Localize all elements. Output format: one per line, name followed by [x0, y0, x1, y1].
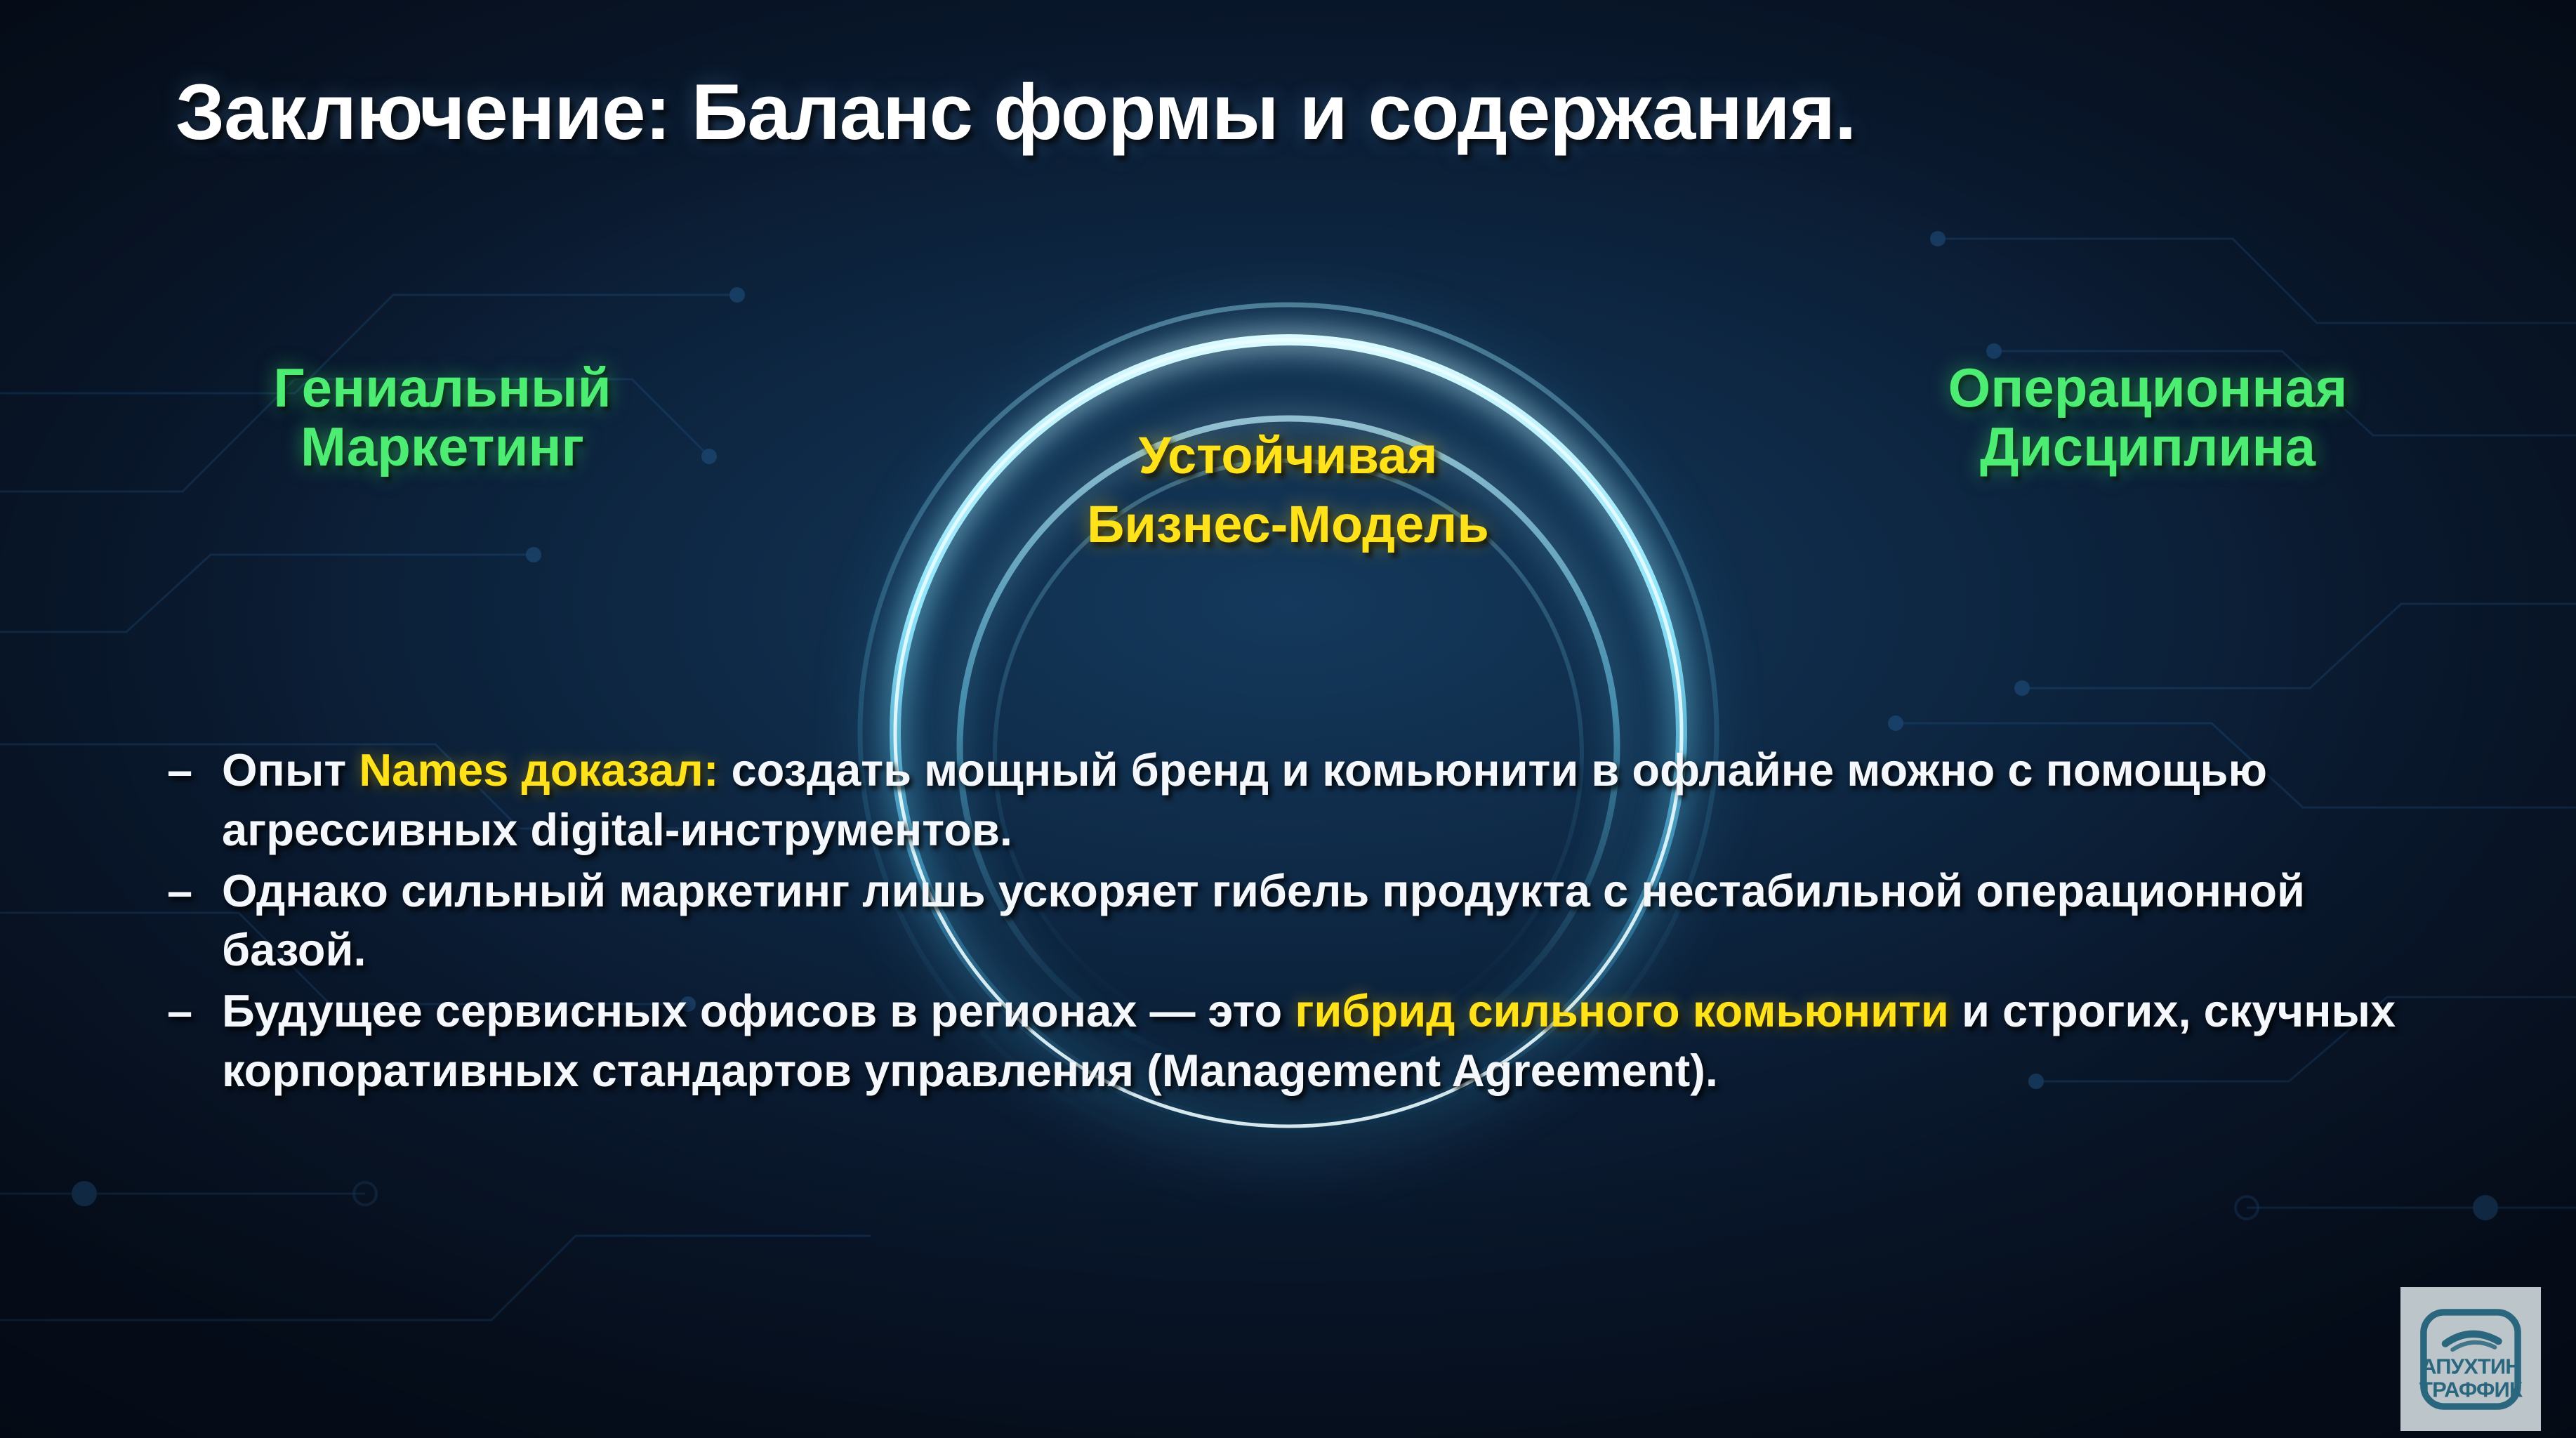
wifi-arc-icon: АПУХТИН ТРАФФИК [2410, 1299, 2531, 1420]
slide-root: Заключение: Баланс формы и содержания. Г… [0, 0, 2576, 1438]
circuit-background-decoration [0, 0, 2576, 1438]
pillar-left-line-2: Маркетинг [176, 417, 709, 476]
bullet-text: Однако сильный маркетинг лишь ускоряет г… [222, 862, 2435, 981]
bullet-item: –Опыт Names доказал: создать мощный брен… [167, 741, 2435, 860]
bullet-marker: – [167, 982, 222, 1041]
bullet-marker: – [167, 862, 222, 921]
pillar-left-line-1: Гениальный [176, 358, 709, 417]
bullet-marker: – [167, 741, 222, 800]
bullet-highlight: гибрид сильного комьюнити [1295, 985, 1949, 1036]
vignette-overlay [0, 0, 2576, 1438]
bullet-plain: Однако сильный маркетинг лишь ускоряет г… [222, 865, 2305, 976]
bullet-list: –Опыт Names доказал: создать мощный брен… [167, 741, 2435, 1102]
bullet-plain: Будущее сервисных офисов в регионах — эт… [222, 985, 1295, 1036]
pillar-right-line-2: Дисциплина [1832, 417, 2464, 476]
center-label-line-1: Устойчивая [902, 421, 1675, 490]
pillar-right-discipline: Операционная Дисциплина [1832, 358, 2464, 476]
page-title: Заключение: Баланс формы и содержания. [176, 67, 1856, 157]
center-label-line-2: Бизнес-Модель [902, 490, 1675, 559]
bullet-highlight: Names доказал: [359, 744, 718, 796]
logo-line-2: ТРАФФИК [2419, 1377, 2523, 1401]
pillar-right-line-1: Операционная [1832, 358, 2464, 417]
pillar-left-marketing: Гениальный Маркетинг [176, 358, 709, 476]
bullet-text: Будущее сервисных офисов в регионах — эт… [222, 982, 2435, 1101]
brand-logo: АПУХТИН ТРАФФИК [2400, 1287, 2541, 1431]
bullet-text: Опыт Names доказал: создать мощный бренд… [222, 741, 2435, 860]
bullet-plain: Опыт [222, 744, 359, 796]
logo-line-1: АПУХТИН [2421, 1354, 2521, 1378]
bullet-item: –Однако сильный маркетинг лишь ускоряет … [167, 862, 2435, 981]
center-label-business-model: Устойчивая Бизнес-Модель [902, 421, 1675, 558]
bullet-item: –Будущее сервисных офисов в регионах — э… [167, 982, 2435, 1101]
